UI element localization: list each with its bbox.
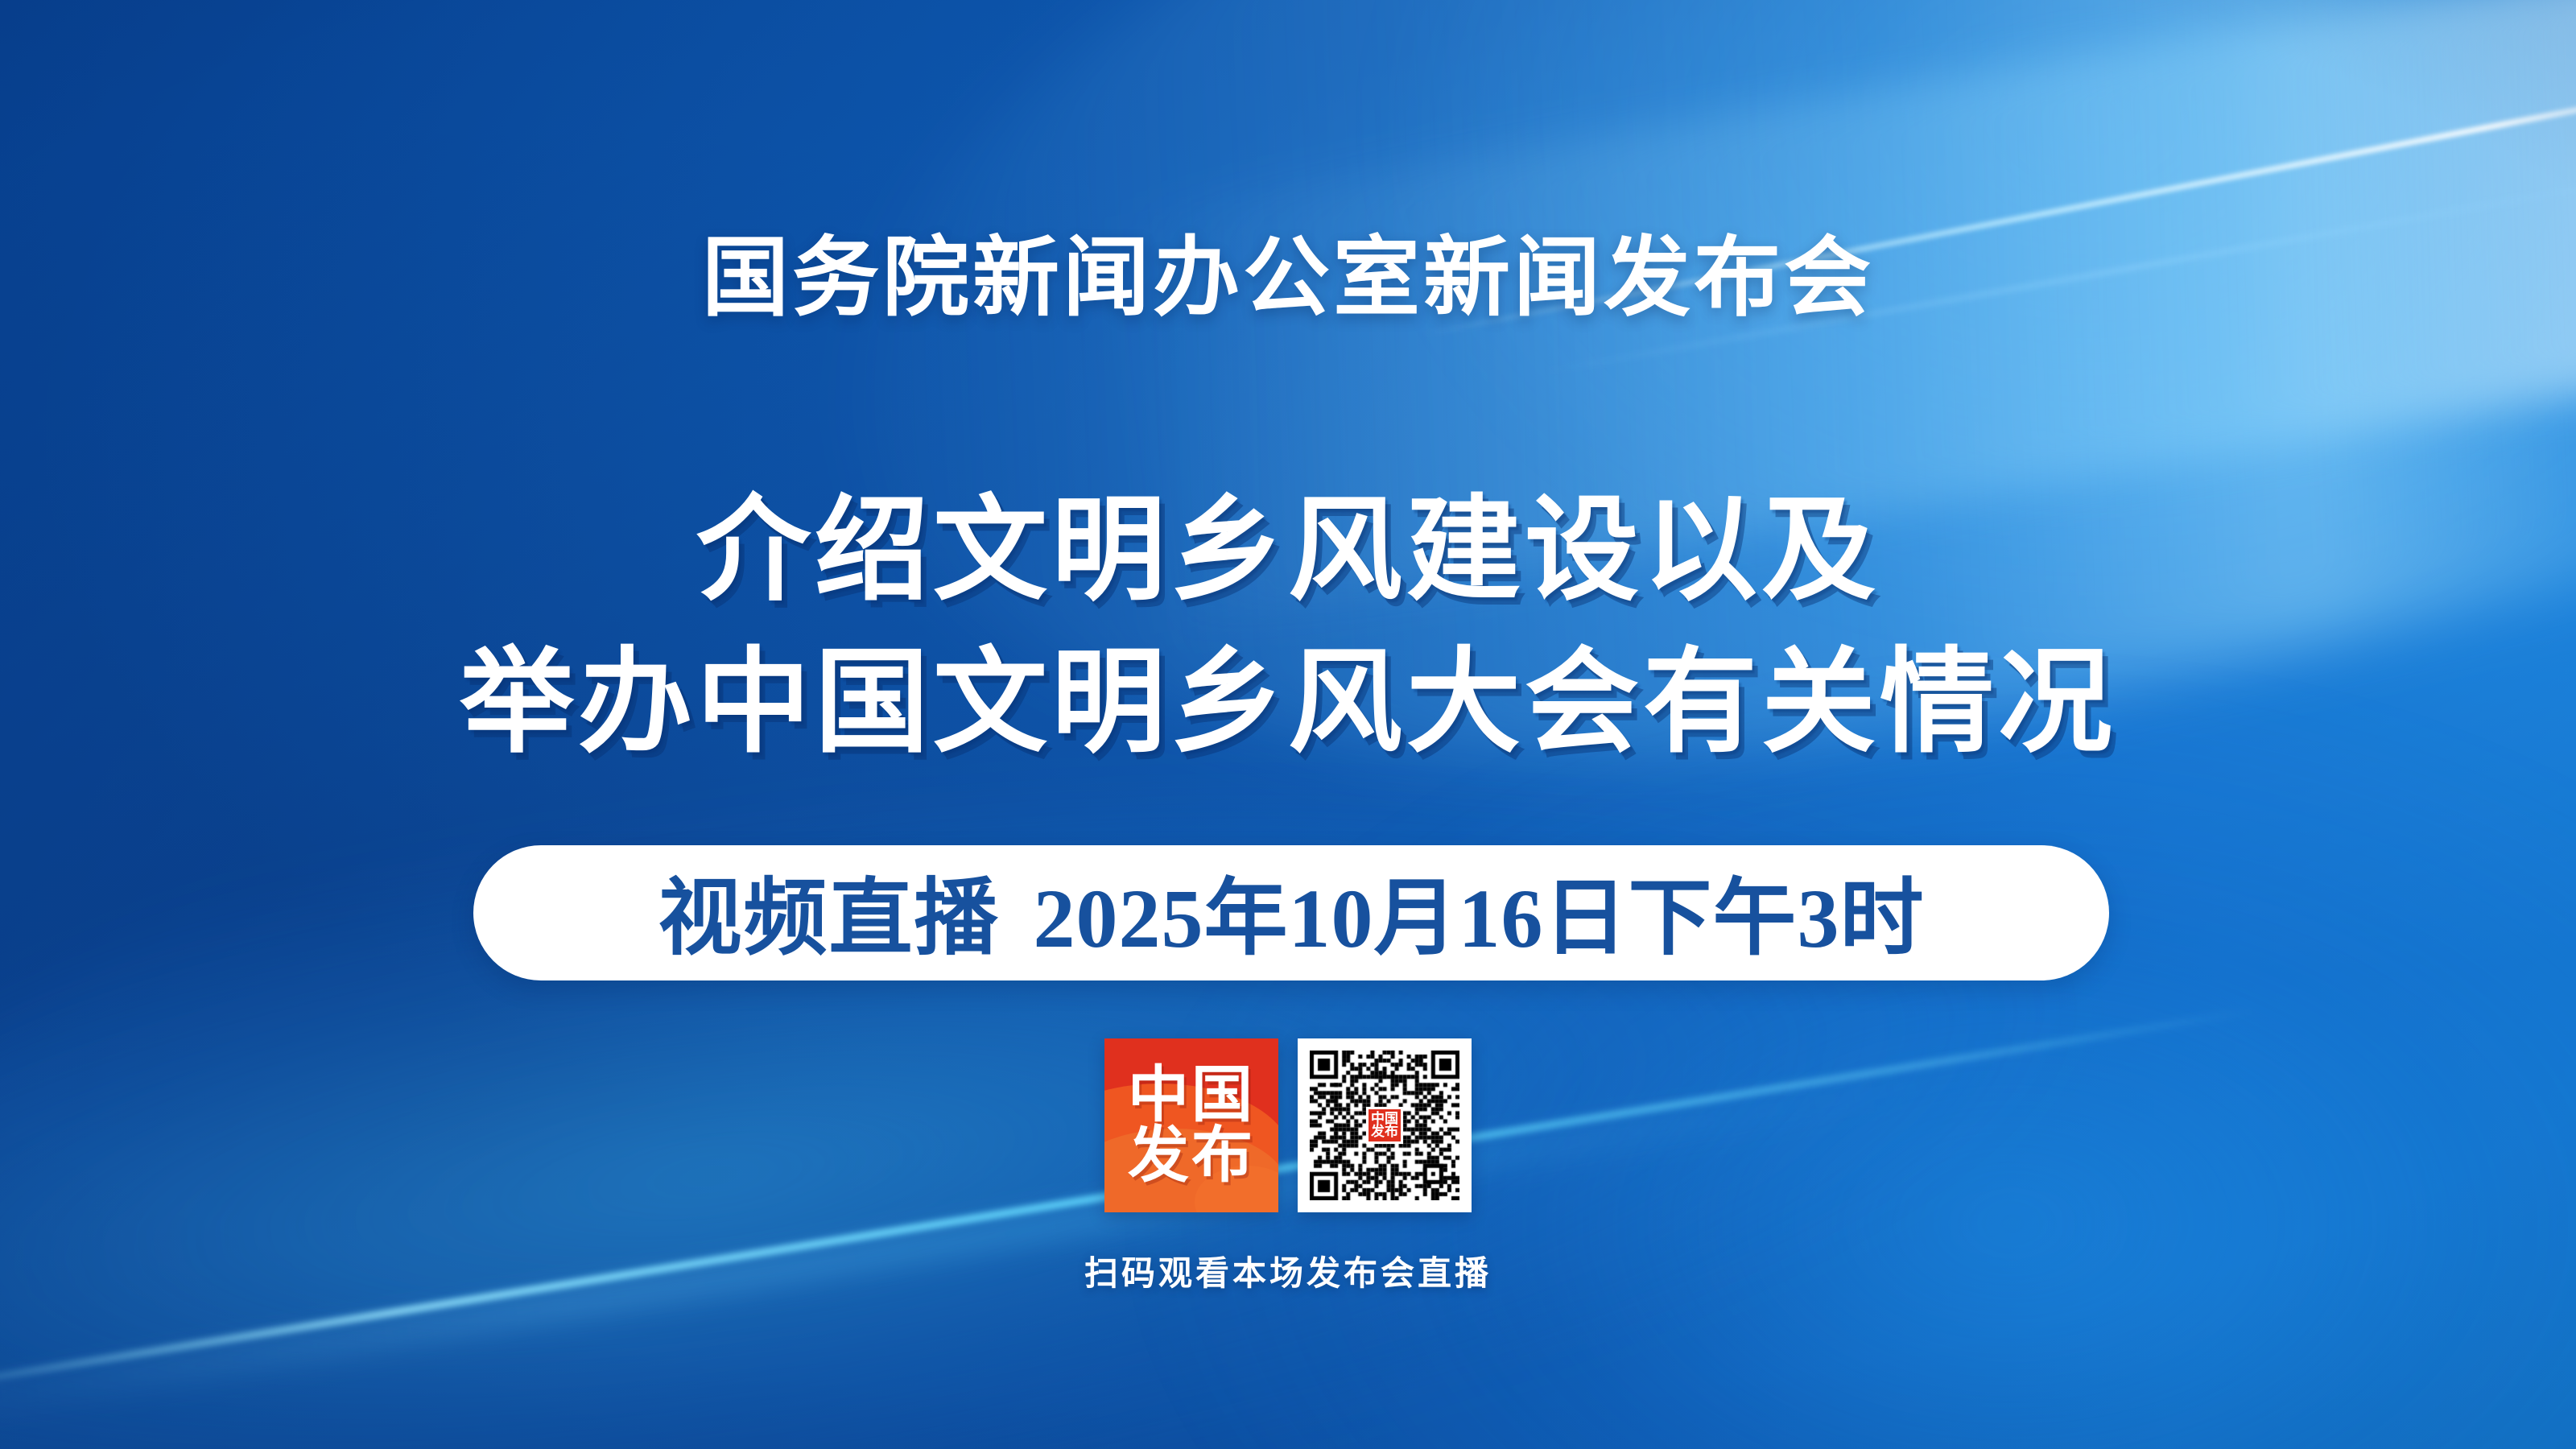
live-badge-label: 视频直播 bbox=[658, 849, 999, 971]
headline-line-2: 举办中国文明乡风大会有关情况 bbox=[0, 627, 2576, 779]
broadcast-datetime: 2025年10月16日下午3时 bbox=[1034, 849, 1925, 971]
livestream-qr-code[interactable]: 中国 发布 bbox=[1298, 1038, 1472, 1212]
headline-line-1: 介绍文明乡风建设以及 bbox=[0, 475, 2576, 627]
china-release-logo: 中国 发布 bbox=[1104, 1038, 1278, 1212]
live-schedule-text: 视频直播 2025年10月16日下午3时 bbox=[658, 849, 1924, 971]
qr-center-line-2: 发布 bbox=[1371, 1125, 1398, 1138]
footer-badges: 中国 发布 中国 发布 bbox=[0, 1038, 2576, 1212]
logo-wordmark: 中国 发布 bbox=[1104, 1038, 1278, 1212]
qr-center-logo: 中国 发布 bbox=[1366, 1107, 1403, 1144]
scan-instruction: 扫码观看本场发布会直播 bbox=[0, 1246, 2576, 1295]
logo-wordmark-line-1: 中国 bbox=[1128, 1066, 1255, 1125]
page-title: 介绍文明乡风建设以及 举办中国文明乡风大会有关情况 bbox=[0, 475, 2576, 779]
organizer-title: 国务院新闻办公室新闻发布会 bbox=[0, 232, 2576, 328]
banner-stage: 国务院新闻办公室新闻发布会 介绍文明乡风建设以及 举办中国文明乡风大会有关情况 … bbox=[0, 0, 2576, 1449]
live-schedule-pill: 视频直播 2025年10月16日下午3时 bbox=[473, 845, 2109, 980]
logo-wordmark-line-2: 发布 bbox=[1128, 1126, 1255, 1185]
